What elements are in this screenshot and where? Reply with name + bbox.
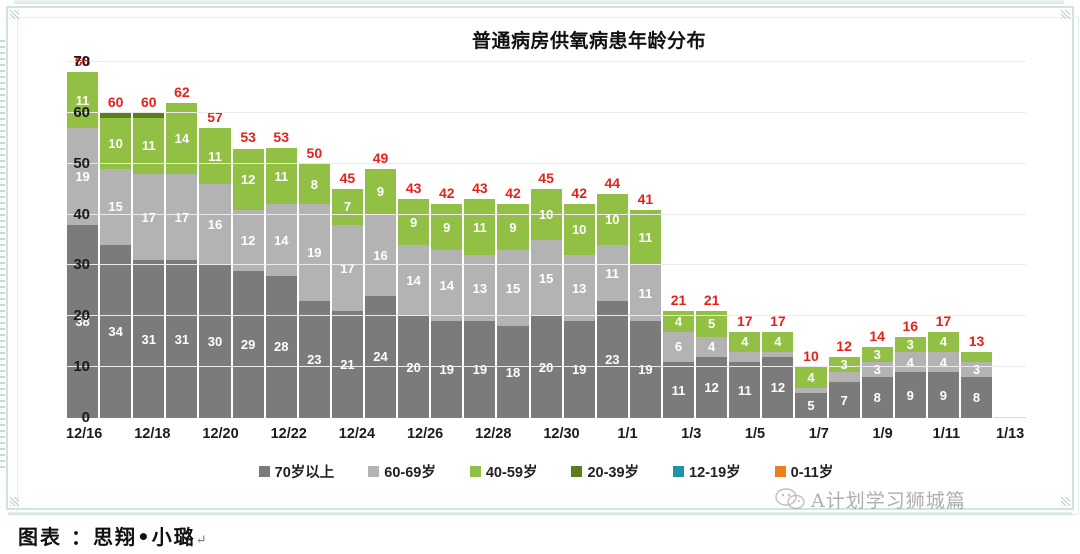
bar-segment: 15: [531, 240, 562, 316]
bar-column[interactable]: 4571721: [331, 62, 364, 418]
bar-segment-value: 15: [539, 272, 553, 285]
bar-segment-value: 19: [440, 363, 454, 376]
bar-segment-value: 31: [142, 333, 156, 346]
bar-segment-value: 21: [340, 358, 354, 371]
bar-segment-value: 15: [506, 282, 520, 295]
wechat-icon: [775, 486, 805, 512]
bar-segment-value: 4: [774, 335, 781, 348]
x-axis-tick-blank: [511, 426, 543, 452]
bar-segment-value: 3: [973, 363, 980, 376]
gridline: [66, 214, 1026, 215]
legend-item[interactable]: 0-11岁: [775, 461, 834, 482]
bar-segment-value: 10: [539, 208, 553, 221]
bar-segment-value: 18: [506, 366, 520, 379]
bar-segment: 4: [762, 332, 793, 352]
stacked-bar[interactable]: 111319: [463, 199, 496, 418]
bar-segment: 2: [729, 352, 760, 362]
bar-segment-value: 11: [274, 170, 288, 183]
bar-total-label: 43: [397, 180, 430, 196]
bar-total-label: 45: [331, 170, 364, 186]
bar-segment-value: 3: [840, 358, 847, 371]
bar-segment: 16: [365, 215, 396, 296]
x-axis-tick-label: 1/9: [867, 426, 899, 452]
bar-segment: 4: [663, 311, 694, 331]
bar-segment-value: 4: [708, 340, 715, 353]
x-axis-tick-blank: [170, 426, 202, 452]
stacked-bar[interactable]: 91624: [364, 169, 397, 418]
bar-segment: 21: [332, 311, 363, 418]
bar-column[interactable]: 174211: [728, 62, 761, 418]
bar-segment-value: 5: [708, 317, 715, 330]
legend-item[interactable]: 70岁以上: [259, 461, 335, 482]
bar-segment-value: 29: [241, 338, 255, 351]
bar-segment-value: 7: [344, 200, 351, 213]
bar-total-label: 12: [828, 338, 861, 354]
bar-segment: 14: [398, 245, 429, 316]
bar-segment-value: 11: [605, 267, 619, 280]
bar-total-label: 21: [662, 292, 695, 308]
bar-segment: 29: [233, 271, 264, 418]
plot-area: 6811193860110153460111173162141731571116…: [66, 62, 1026, 418]
bar-segment: 12: [233, 210, 264, 271]
bar-segment: 30: [199, 265, 230, 418]
bar-segment-value: 5: [807, 399, 814, 412]
stacked-bar-segments: 101520: [530, 189, 563, 418]
stacked-bar-segments: 111630: [198, 128, 231, 418]
bar-segment-value: 10: [572, 223, 586, 236]
gridline: [66, 61, 1026, 62]
bar-segment: 19: [564, 321, 595, 418]
bar-segment: 23: [299, 301, 330, 418]
y-axis-tick-label: 40: [50, 206, 90, 223]
stacked-bar-segments: 121229: [232, 148, 265, 418]
x-axis-tick-blank: [707, 426, 739, 452]
bar-total-label: 21: [695, 292, 728, 308]
bar-column[interactable]: 13238: [960, 62, 993, 418]
stacked-bar-segments: 111319: [463, 199, 496, 418]
bar-segment-value: 4: [675, 315, 682, 328]
bar-segment-value: 11: [639, 287, 653, 300]
stacked-bar-segments: 4112: [761, 332, 794, 418]
bar-column[interactable]: 214611: [662, 62, 695, 418]
bar-segment: 3: [862, 347, 893, 362]
bar-segment: 15: [100, 169, 131, 245]
legend-label: 12-19岁: [689, 461, 741, 482]
bar-column[interactable]: 43111319: [463, 62, 496, 418]
source-credit-text: 图表 ：思翔•小璐: [18, 525, 196, 549]
bar-column[interactable]: 4991624: [364, 62, 397, 418]
bar-segment: 9: [365, 169, 396, 215]
bar-total-label: 42: [430, 185, 463, 201]
stacked-bar-segments: 449: [927, 332, 960, 418]
bar-segment: 8: [961, 377, 992, 418]
legend-swatch: [571, 466, 582, 477]
bar-segment: 24: [365, 296, 396, 418]
bar-segment-value: 30: [208, 335, 222, 348]
stacked-bar[interactable]: 71721: [331, 189, 364, 418]
legend-item[interactable]: 12-19岁: [673, 461, 741, 482]
bar-segment-value: 34: [108, 325, 122, 338]
bar-segment-value: 7: [840, 394, 847, 407]
x-axis-tick-blank: [102, 426, 134, 452]
chart-title: 普通病房供氧病患年龄分布: [22, 26, 1056, 53]
source-credit: 图表 ：思翔•小璐↵: [18, 521, 209, 550]
bar-column[interactable]: 44101123: [596, 62, 629, 418]
resize-handle-top-right[interactable]: [1061, 10, 1070, 19]
bar-segment: 8: [299, 164, 330, 205]
x-axis-tick-blank: [239, 426, 271, 452]
x-axis-tick-label: 12/18: [134, 426, 170, 452]
bar-column[interactable]: 14338: [861, 62, 894, 418]
bar-segment: 3: [862, 362, 893, 377]
y-axis-tick-label: 70: [50, 53, 90, 70]
bar-segment-value: 3: [907, 338, 914, 351]
stacked-bar-segments: 4211: [728, 332, 761, 418]
bar-segment: 28: [266, 276, 297, 418]
bar-segment: 11: [464, 199, 495, 255]
bar-total-label: 42: [563, 185, 596, 201]
stacked-bar-segments: 81923: [298, 164, 331, 418]
legend-swatch: [470, 466, 481, 477]
bar-column[interactable]: 16349: [894, 62, 927, 418]
bar-segment: 9: [431, 204, 462, 250]
legend-item[interactable]: 20-39岁: [571, 461, 639, 482]
bar-segment-value: 8: [311, 178, 318, 191]
bar-column[interactable]: 53121229: [232, 62, 265, 418]
bar-column[interactable]: [993, 62, 1026, 418]
bar-segment-value: 31: [175, 333, 189, 346]
bar-column[interactable]: 53111428: [265, 62, 298, 418]
bar-segment-value: 10: [108, 137, 122, 150]
bar-segment: 12: [233, 149, 264, 210]
bar-segment-value: 11: [208, 150, 222, 163]
bar-segment: 31: [133, 260, 164, 418]
bar-segment-value: 6: [675, 340, 682, 353]
bar-segment-value: 11: [672, 384, 686, 397]
stacked-bar[interactable]: 91420: [397, 199, 430, 418]
stacked-bar-segments: 101319: [563, 204, 596, 418]
bar-total-label: 41: [629, 191, 662, 207]
bar-segment-value: 3: [874, 363, 881, 376]
resize-handle-top-left[interactable]: [10, 10, 19, 19]
bar-segment: 4: [895, 352, 926, 372]
x-axis-tick-label: 1/1: [612, 426, 644, 452]
bar-segment: 2: [961, 352, 992, 362]
bar-total-label: 13: [960, 333, 993, 349]
bar-segment-value: 4: [940, 335, 947, 348]
x-axis-tick-blank: [835, 426, 867, 452]
bar-column[interactable]: 174112: [761, 62, 794, 418]
bar-segment: 11: [630, 265, 661, 321]
bar-total-label: 53: [232, 129, 265, 145]
bar-segment: 11: [597, 245, 628, 301]
bar-total-label: 62: [165, 84, 198, 100]
bar-column[interactable]: 4291419: [430, 62, 463, 418]
bar-column[interactable]: 57111630: [198, 62, 231, 418]
bar-segment: 11: [199, 128, 230, 184]
bar-segment: 7: [829, 382, 860, 418]
legend-label: 40-59岁: [486, 461, 538, 482]
bar-segment-value: 9: [443, 221, 450, 234]
bar-total-label: 44: [596, 175, 629, 191]
bar-total-label: 60: [99, 94, 132, 110]
bar-segment: 10: [531, 189, 562, 240]
bar-total-label: 53: [265, 129, 298, 145]
bar-column[interactable]: 42101319: [563, 62, 596, 418]
x-axis-tick-label: 12/28: [475, 426, 511, 452]
bar-segment: 9: [398, 199, 429, 245]
bar-segment-value: 9: [509, 221, 516, 234]
legend-label: 20-39岁: [587, 461, 639, 482]
stacked-bar-segments: 238: [960, 352, 993, 418]
x-axis-tick-blank: [899, 426, 931, 452]
bar-segment: 19: [464, 321, 495, 418]
legend-label: 60-69岁: [384, 461, 436, 482]
bar-segment-value: 9: [377, 185, 384, 198]
bar-segment: 11: [266, 148, 297, 204]
bar-segment-value: 19: [572, 363, 586, 376]
stacked-bar-segments: 71721: [331, 189, 364, 418]
bar-segment-value: 13: [572, 282, 586, 295]
watermark-text: A计划学习狮城篇: [811, 486, 966, 513]
stacked-bar[interactable]: 91518: [496, 204, 529, 418]
x-axis-tick-blank: [771, 426, 803, 452]
x-axis-tick-label: 12/22: [271, 426, 307, 452]
bar-column[interactable]: 601101534: [99, 62, 132, 418]
x-axis-tick-label: 1/5: [739, 426, 771, 452]
bar-column[interactable]: 4291518: [496, 62, 529, 418]
bar-segment: 11: [630, 210, 661, 266]
x-axis-tick-blank: [643, 426, 675, 452]
screenshot-root: 普通病房供氧病患年龄分布 681119386011015346011117316…: [0, 0, 1080, 554]
bar-column[interactable]: 4391420: [397, 62, 430, 418]
bar-segment-value: 16: [208, 218, 222, 231]
bar-segment-value: 14: [440, 279, 454, 292]
bar-segment-value: 9: [907, 389, 914, 402]
y-axis-tick-label: 20: [50, 307, 90, 324]
stacked-bar-segments: 415: [794, 367, 827, 418]
bar-total-label: 16: [894, 318, 927, 334]
y-axis-tick-label: 30: [50, 256, 90, 273]
bar-segment-value: 17: [340, 262, 354, 275]
bar-segment-value: 15: [108, 200, 122, 213]
bar-segment-value: 17: [175, 211, 189, 224]
bar-total-label: 10: [794, 348, 827, 364]
x-axis-tick-label: 12/20: [202, 426, 238, 452]
chart-legend: 70岁以上60-69岁40-59岁20-39岁12-19岁0-11岁: [66, 458, 1026, 484]
stacked-bar[interactable]: 4112: [761, 332, 794, 418]
bar-segment: 5: [795, 393, 826, 418]
y-axis-tick-label: 50: [50, 155, 90, 172]
bar-segment-value: 8: [874, 391, 881, 404]
legend-label: 70岁以上: [275, 461, 335, 482]
bar-segment-value: 14: [175, 132, 189, 145]
legend-label: 0-11岁: [791, 461, 834, 482]
legend-swatch: [259, 466, 270, 477]
stacked-bar[interactable]: 415: [794, 367, 827, 418]
bar-segment: 23: [597, 301, 628, 418]
bar-segment: 2: [829, 372, 860, 382]
stacked-bar[interactable]: 449: [927, 332, 960, 418]
bar-segment-value: 19: [307, 246, 321, 259]
stacked-bar-segments: 141731: [165, 103, 198, 418]
stacked-bar[interactable]: 4611: [662, 311, 695, 418]
document-top-bar: [14, 0, 1064, 4]
stacked-bar-segments: 338: [861, 347, 894, 418]
gridline: [66, 366, 1026, 367]
stacked-bar[interactable]: 91419: [430, 204, 463, 418]
legend-swatch: [368, 466, 379, 477]
bar-segment: 4: [729, 332, 760, 352]
gridline: [66, 163, 1026, 164]
stacked-bar[interactable]: 121229: [232, 148, 265, 418]
stacked-bar[interactable]: 141731: [165, 103, 198, 418]
x-axis-tick-label: 12/26: [407, 426, 443, 452]
bar-segment-value: 24: [373, 350, 387, 363]
stacked-bar[interactable]: 338: [861, 347, 894, 418]
bar-segment: 17: [133, 174, 164, 260]
bar-total-label: 60: [132, 94, 165, 110]
bar-segment: 31: [166, 260, 197, 418]
bar-segment-value: 11: [473, 221, 487, 234]
bar-segment: 14: [431, 250, 462, 321]
bar-column[interactable]: 10415: [794, 62, 827, 418]
bar-total-label: 14: [861, 328, 894, 344]
bar-segment: 3: [895, 337, 926, 352]
bar-segment-value: 8: [973, 391, 980, 404]
bar-segment: 4: [696, 337, 727, 357]
legend-item[interactable]: 60-69岁: [368, 461, 436, 482]
x-axis-tick-label: 1/3: [675, 426, 707, 452]
stacked-bar-segments: 91419: [430, 204, 463, 418]
bar-segment-value: 14: [274, 234, 288, 247]
x-axis-tick-blank: [443, 426, 475, 452]
stacked-bar-segments: 91420: [397, 199, 430, 418]
bar-column[interactable]: 5081923: [298, 62, 331, 418]
bar-segment: 8: [862, 377, 893, 418]
bar-segment-value: 17: [142, 211, 156, 224]
bar-total-label: 50: [298, 145, 331, 161]
y-axis-tick-label: 10: [50, 358, 90, 375]
bar-segment-value: 19: [473, 363, 487, 376]
bar-segment-value: 4: [741, 335, 748, 348]
stacked-bar[interactable]: 111630: [198, 128, 231, 418]
bar-column[interactable]: 17449: [927, 62, 960, 418]
bar-column[interactable]: 12327: [828, 62, 861, 418]
bar-segment: 34: [100, 245, 131, 418]
legend-swatch: [673, 466, 684, 477]
bar-column[interactable]: 41111119: [629, 62, 662, 418]
bar-segment-value: 16: [373, 249, 387, 262]
bar-total-label: 42: [496, 185, 529, 201]
bar-segment: 7: [332, 189, 363, 225]
x-axis-tick-blank: [962, 426, 994, 452]
x-axis-tick-label: 1/7: [803, 426, 835, 452]
bar-segment-value: 23: [605, 353, 619, 366]
bar-segment: 11: [663, 362, 694, 418]
bar-segment-value: 12: [241, 234, 255, 247]
bar-segment: 11: [133, 118, 164, 174]
y-axis-tick-label: 0: [50, 409, 90, 426]
stacked-bar-segments: 111428: [265, 148, 298, 418]
legend-item[interactable]: 40-59岁: [470, 461, 538, 482]
stacked-bar[interactable]: 349: [894, 337, 927, 418]
bar-segment: 17: [332, 225, 363, 311]
bar-segment-value: 9: [940, 389, 947, 402]
bar-segment-value: 14: [406, 274, 420, 287]
x-axis-tick-label: 1/13: [994, 426, 1026, 452]
x-axis-labels: 12/1612/1812/2012/2212/2412/2612/2812/30…: [66, 426, 1026, 452]
stacked-bar[interactable]: 101319: [563, 204, 596, 418]
stacked-bar-segments: 101123: [596, 194, 629, 418]
bar-segment: 3: [829, 357, 860, 372]
pilcrow-mark: ↵: [196, 533, 209, 548]
bar-column[interactable]: 62141731: [165, 62, 198, 418]
stacked-bar-segments: 5412: [695, 311, 728, 418]
stacked-bar[interactable]: 101520: [530, 189, 563, 418]
x-axis-tick-blank: [307, 426, 339, 452]
bar-segment: 3: [961, 362, 992, 377]
stacked-bar[interactable]: 111119: [629, 210, 662, 419]
bar-segment-value: 11: [142, 139, 156, 152]
bar-segment-value: 4: [807, 371, 814, 384]
bar-column[interactable]: 601111731: [132, 62, 165, 418]
bar-column[interactable]: 45101520: [530, 62, 563, 418]
resize-handle-bottom-left[interactable]: [10, 497, 19, 506]
bar-total-label: 45: [530, 170, 563, 186]
gridline: [66, 315, 1026, 316]
bar-segment: 4: [928, 352, 959, 372]
bar-total-label: 43: [463, 180, 496, 196]
bar-column[interactable]: 215412: [695, 62, 728, 418]
bar-segment: 4: [795, 367, 826, 387]
bar-segment-value: 11: [738, 384, 752, 397]
bar-segment-value: 13: [473, 282, 487, 295]
watermark: A计划学习狮城篇: [775, 482, 1075, 516]
stacked-bar[interactable]: 81923: [298, 164, 331, 418]
bar-segment: 9: [895, 372, 926, 418]
bar-segment-value: 28: [274, 340, 288, 353]
stacked-bar[interactable]: 101123: [596, 194, 629, 418]
bar-segment-value: 19: [75, 170, 89, 183]
left-ruler: [0, 40, 5, 470]
stacked-bar-segments: 349: [894, 337, 927, 418]
chart-container: 普通病房供氧病患年龄分布 681119386011015346011117316…: [22, 18, 1056, 498]
x-axis-tick-label: 12/30: [543, 426, 579, 452]
bar-segment: 6: [663, 332, 694, 363]
bar-segment-value: 19: [638, 363, 652, 376]
stacked-bar[interactable]: 5412: [695, 311, 728, 418]
x-axis-tick-blank: [375, 426, 407, 452]
bar-segment-value: 3: [874, 348, 881, 361]
bar-segment-value: 12: [771, 381, 785, 394]
stacked-bar[interactable]: 238: [960, 352, 993, 418]
bar-segment: 19: [630, 321, 661, 418]
footer-divider: [8, 512, 1072, 515]
stacked-bar-segments: 91624: [364, 169, 397, 418]
stacked-bar[interactable]: 111428: [265, 148, 298, 418]
x-axis-tick-blank: [580, 426, 612, 452]
bar-segment-value: 9: [410, 216, 417, 229]
stacked-bar[interactable]: 4211: [728, 332, 761, 418]
x-axis-tick-label: 12/16: [66, 426, 102, 452]
y-axis-tick-label: 60: [50, 104, 90, 121]
bar-segment: 19: [299, 204, 330, 301]
bar-segment: 10: [100, 118, 131, 169]
bar-segment: 9: [928, 372, 959, 418]
bar-segment: 11: [729, 362, 760, 418]
bar-segment: 10: [564, 204, 595, 255]
